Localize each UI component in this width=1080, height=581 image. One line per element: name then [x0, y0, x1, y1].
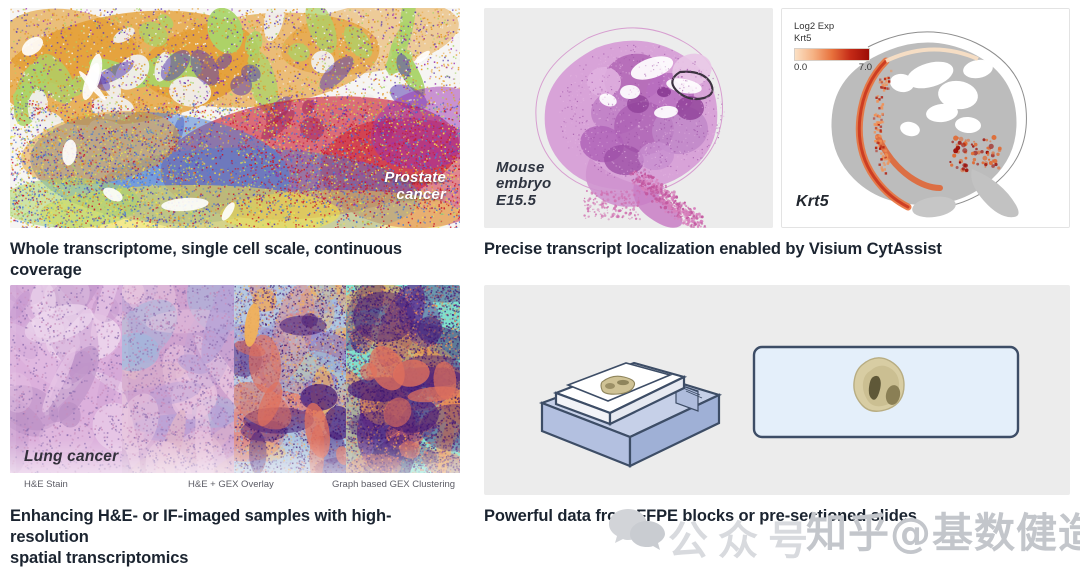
caption-prostate: Whole transcriptome, single cell scale, … [10, 239, 470, 281]
prostate-label-line1: Prostate [384, 170, 446, 187]
krt5-legend-min: 0.0 [794, 62, 807, 73]
card-ffpe[interactable]: Powerful data from FFPE blocks or pre-se… [484, 285, 1070, 527]
strip-caption-clustering: Graph based GEX Clustering [332, 479, 455, 490]
embryo-label-line2: embryo [496, 176, 551, 193]
lung-strip-caption-row: H&E Stain H&E + GEX Overlay Graph based … [10, 473, 460, 495]
figure-cytassist-pair: Mouse embryo E15.5 Log2 Exp Krt5 0.0 7.0… [484, 8, 1070, 228]
krt5-legend-gradient-bar [794, 48, 870, 61]
embryo-label-line3: E15.5 [496, 193, 551, 210]
mouse-embryo-label: Mouse embryo E15.5 [496, 160, 551, 210]
prostate-overlay-label: Prostate cancer [384, 170, 446, 204]
caption-cytassist: Precise transcript localization enabled … [484, 239, 1070, 260]
figure-mouse-embryo-he: Mouse embryo E15.5 [484, 8, 773, 228]
caption-lung: Enhancing H&E- or IF-imaged samples with… [10, 506, 470, 568]
ffpe-block-icon [542, 363, 719, 466]
krt5-legend: Log2 Exp Krt5 0.0 7.0 [794, 21, 872, 73]
figure-lung-he-gex-strips: Lung cancer H&E Stain H&E + GEX Overlay … [10, 285, 460, 495]
krt5-legend-title-line1: Log2 Exp [794, 21, 872, 33]
card-prostate-cancer[interactable]: Prostate cancer Whole transcriptome, sin… [10, 8, 470, 281]
krt5-legend-ticks: 0.0 7.0 [794, 62, 872, 73]
feature-grid: Prostate cancer Whole transcriptome, sin… [0, 0, 1080, 581]
strip-caption-he-stain: H&E Stain [24, 479, 68, 490]
caption-lung-line1: Enhancing H&E- or IF-imaged samples with… [10, 506, 470, 548]
figure-krt5-expression: Log2 Exp Krt5 0.0 7.0 Krt5 [781, 8, 1070, 228]
embryo-label-line1: Mouse [496, 160, 551, 177]
ffpe-block-and-slide-art [484, 285, 1070, 495]
ffpe-slide-icon [754, 347, 1018, 437]
krt5-legend-title-line2: Krt5 [794, 33, 872, 45]
krt5-gene-label: Krt5 [796, 193, 829, 211]
figure-prostate-cell-map: Prostate cancer [10, 8, 460, 228]
prostate-label-line2: cancer [384, 187, 446, 204]
caption-ffpe: Powerful data from FFPE blocks or pre-se… [484, 506, 1070, 527]
card-cytassist[interactable]: Mouse embryo E15.5 Log2 Exp Krt5 0.0 7.0… [484, 8, 1070, 260]
lung-overlay-label: Lung cancer [24, 448, 118, 465]
krt5-legend-max: 7.0 [859, 62, 872, 73]
caption-lung-line2: spatial transcriptomics [10, 548, 470, 569]
strip-caption-overlay: H&E + GEX Overlay [188, 479, 274, 490]
card-lung-cancer[interactable]: Lung cancer H&E Stain H&E + GEX Overlay … [10, 285, 470, 568]
figure-ffpe-illustration [484, 285, 1070, 495]
